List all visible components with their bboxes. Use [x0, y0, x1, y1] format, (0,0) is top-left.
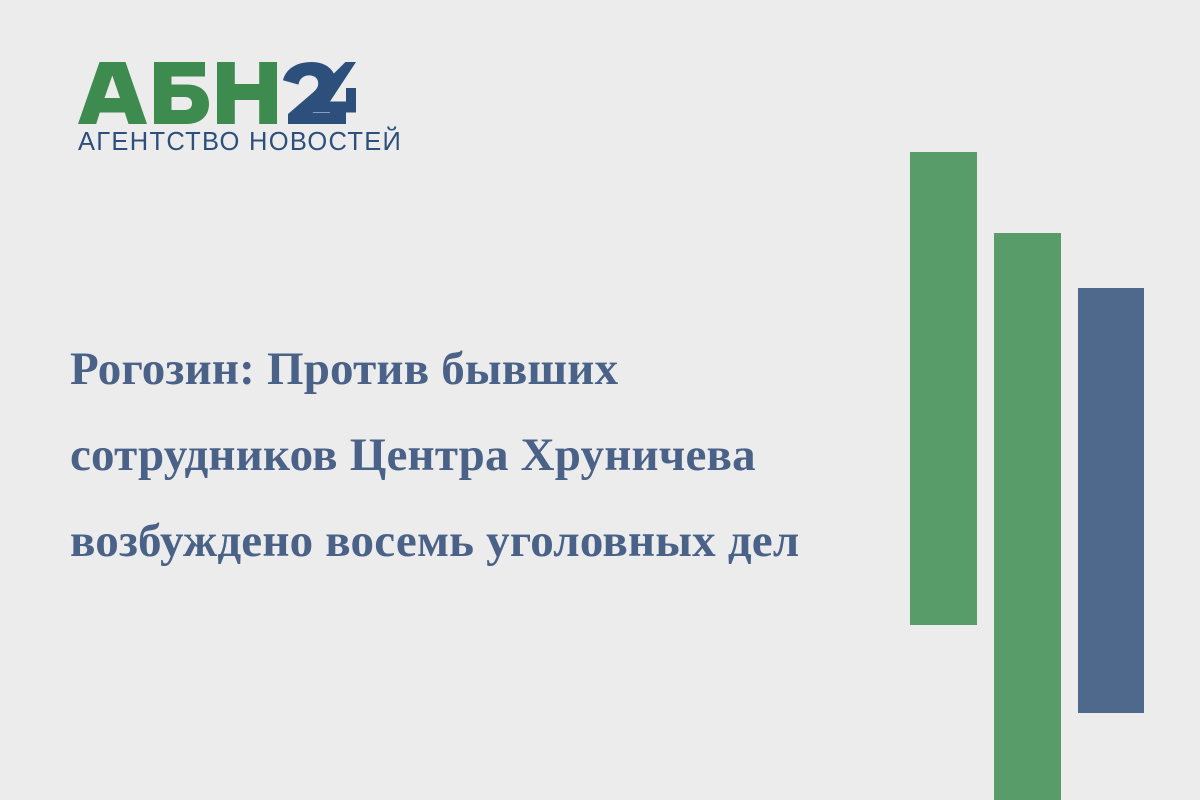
chart-bar-2	[994, 233, 1061, 800]
news-card: АГЕНТСТВО НОВОСТЕЙ Рогозин: Против бывши…	[0, 0, 1200, 800]
abn24-logo-icon	[78, 62, 356, 124]
logo-tagline: АГЕНТСТВО НОВОСТЕЙ	[78, 130, 378, 156]
brand-logo: АГЕНТСТВО НОВОСТЕЙ	[78, 62, 378, 162]
chart-bar-1	[910, 152, 977, 625]
chart-bar-3	[1078, 288, 1144, 713]
page-title: Рогозин: Против бывших сотрудников Центр…	[70, 326, 870, 584]
